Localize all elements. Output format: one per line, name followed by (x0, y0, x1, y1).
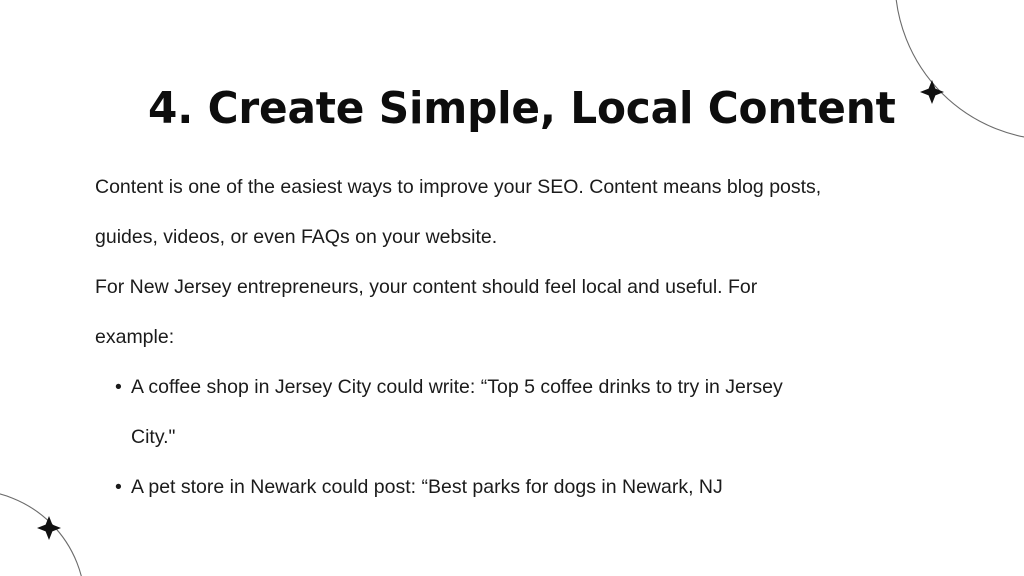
slide-body: Content is one of the easiest ways to im… (95, 162, 985, 512)
bullet-list: • A coffee shop in Jersey City could wri… (95, 362, 985, 512)
list-item: • A coffee shop in Jersey City could wri… (95, 362, 985, 462)
slide-canvas: 4. Create Simple, Local Content Content … (0, 0, 1024, 576)
body-paragraph-line: For New Jersey entrepreneurs, your conte… (95, 262, 985, 312)
slide-title: 4. Create Simple, Local Content (148, 85, 916, 133)
bullet-marker-icon: • (115, 362, 122, 412)
list-item-line: A coffee shop in Jersey City could write… (131, 362, 985, 412)
bullet-marker-icon: • (115, 462, 122, 512)
sparkle-star-icon-top-right (920, 80, 944, 104)
sparkle-star-icon-bottom-left (37, 516, 61, 540)
body-paragraph-line: example: (95, 312, 985, 362)
bottom-left-circle-outline (0, 490, 85, 576)
body-paragraph-line: guides, videos, or even FAQs on your web… (95, 212, 985, 262)
list-item-line: City." (131, 412, 985, 462)
list-item: • A pet store in Newark could post: “Bes… (95, 462, 985, 512)
body-paragraph-line: Content is one of the easiest ways to im… (95, 162, 985, 212)
list-item-line: A pet store in Newark could post: “Best … (131, 462, 985, 512)
